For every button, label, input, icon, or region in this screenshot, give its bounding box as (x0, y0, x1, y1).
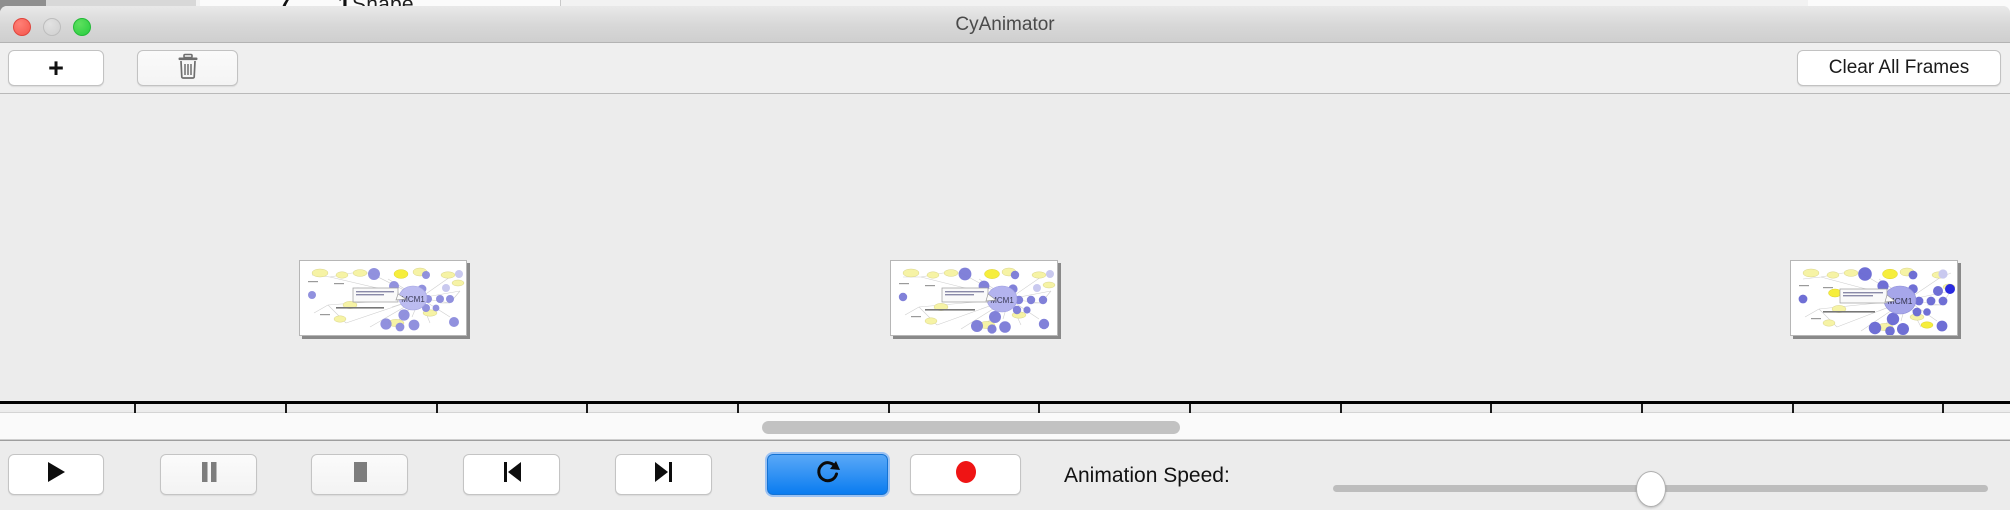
stop-icon (350, 461, 370, 488)
timeline-frame-thumbnail[interactable]: MCM1 (1790, 260, 1958, 336)
timeline-axis (0, 401, 2010, 404)
record-icon (954, 460, 978, 489)
window-title: CyAnimator (0, 14, 2010, 36)
skip-start-button[interactable] (463, 454, 560, 495)
play-icon (46, 461, 66, 488)
plus-icon: + (48, 55, 64, 82)
skip-back-icon (501, 461, 523, 488)
cyanimator-window: CyAnimator + Cl (0, 6, 2010, 510)
animation-speed-label: Animation Speed: (1064, 464, 1230, 488)
pause-icon (199, 461, 219, 488)
pause-button[interactable] (160, 454, 257, 495)
loop-button[interactable] (767, 454, 888, 495)
screen: 7 1 Shape CyAnimator + (0, 0, 2010, 510)
scrollbar-thumb[interactable] (762, 421, 1180, 434)
play-button[interactable] (8, 454, 104, 495)
skip-end-button[interactable] (615, 454, 712, 495)
stop-button[interactable] (311, 454, 408, 495)
timeline-frame-thumbnail[interactable]: MCM1 (890, 260, 1058, 336)
clear-all-frames-button[interactable]: Clear All Frames (1797, 50, 2001, 86)
record-button[interactable] (910, 454, 1021, 495)
window-titlebar[interactable]: CyAnimator (0, 6, 2010, 43)
loop-icon (816, 459, 840, 490)
timeline-frame-thumbnail[interactable]: MCM1 (299, 260, 467, 336)
animation-speed-slider-thumb[interactable] (1636, 471, 1666, 507)
thumbnail-node-label: MCM1 (401, 295, 425, 304)
delete-frame-button[interactable] (137, 50, 238, 86)
timeline-scrollbar[interactable] (0, 413, 2010, 441)
frame-toolbar: + Clear All Frames (0, 43, 2010, 94)
add-frame-button[interactable]: + (8, 50, 104, 86)
skip-forward-icon (653, 461, 675, 488)
timeline-panel[interactable]: MCM1 (0, 94, 2010, 413)
trash-icon (177, 53, 199, 84)
clear-all-frames-label: Clear All Frames (1829, 57, 1969, 79)
transport-bar: Animation Speed: (0, 441, 2010, 509)
